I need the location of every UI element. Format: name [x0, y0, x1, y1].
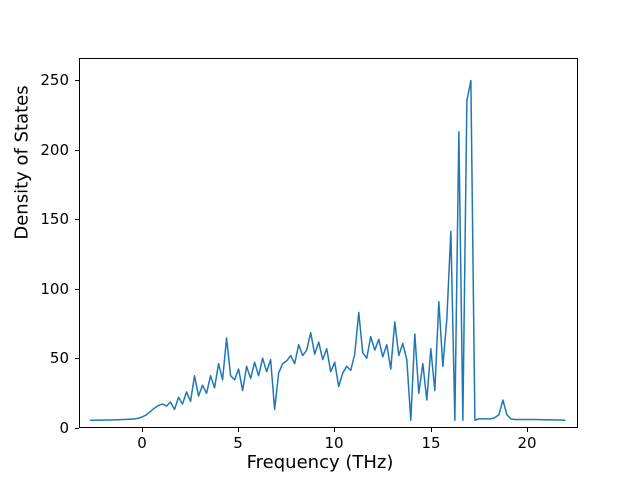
ytick-mark	[75, 80, 79, 81]
ytick-label-50: 50	[9, 350, 69, 367]
xtick-label-20: 20	[497, 434, 557, 452]
plot-axes-frame	[79, 58, 578, 428]
x-axis-label: Frequency (THz)	[0, 452, 640, 473]
ytick-label-0: 0	[9, 420, 69, 437]
ytick-mark	[75, 289, 79, 290]
ytick-mark	[75, 358, 79, 359]
xtick-label-5: 5	[208, 434, 268, 452]
xtick-label-15: 15	[401, 434, 461, 452]
xtick-mark	[334, 428, 335, 432]
xtick-mark	[238, 428, 239, 432]
dos-line-chart	[80, 59, 579, 429]
y-axis-label: Density of States	[12, 0, 33, 333]
dos-line-series	[90, 81, 565, 421]
xtick-label-10: 10	[304, 434, 364, 452]
xtick-mark	[431, 428, 432, 432]
xtick-label-0: 0	[112, 434, 172, 452]
ytick-mark	[75, 219, 79, 220]
ytick-mark	[75, 150, 79, 151]
xtick-mark	[142, 428, 143, 432]
ytick-mark	[75, 428, 79, 429]
figure-canvas: 0 5 10 15 20 0 50 100 150 200 250 Freque…	[0, 0, 640, 480]
xtick-mark	[527, 428, 528, 432]
